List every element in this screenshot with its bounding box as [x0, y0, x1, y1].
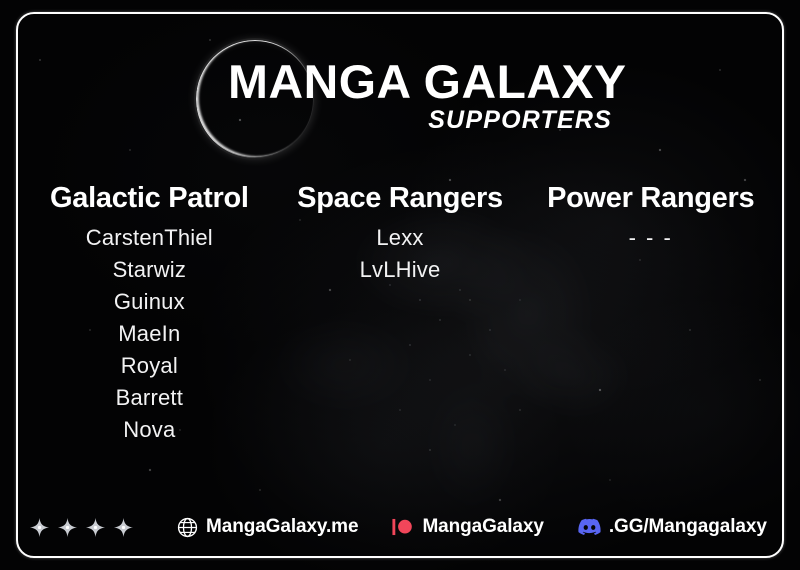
tier-empty-placeholder: - - -: [525, 222, 776, 254]
tier-name-list: CarstenThiel Starwiz Guinux MaeIn Royal …: [24, 222, 275, 445]
tier-title: Galactic Patrol: [24, 182, 275, 215]
sparkle-star-icon: [30, 518, 49, 537]
supporter-name: MaeIn: [24, 318, 275, 350]
supporter-name: Nova: [24, 414, 275, 446]
tier-name-list: - - -: [525, 222, 776, 254]
sparkle-decoration: [30, 518, 133, 537]
supporter-name: Guinux: [24, 286, 275, 318]
tier-title: Space Rangers: [275, 182, 526, 215]
sparkle-star-icon: [114, 518, 133, 537]
brand-subtitle: SUPPORTERS: [228, 108, 612, 133]
tier-column-space-rangers: Space Rangers Lexx LvLHive: [275, 182, 526, 286]
sparkle-star-icon: [58, 518, 77, 537]
supporter-name: CarstenThiel: [24, 222, 275, 254]
supporter-tiers: Galactic Patrol CarstenThiel Starwiz Gui…: [24, 182, 776, 446]
tier-column-power-rangers: Power Rangers - - -: [525, 182, 776, 254]
supporter-name: Starwiz: [24, 254, 275, 286]
brand-logo: MANGA GALAXY SUPPORTERS: [228, 58, 648, 133]
tier-name-list: Lexx LvLHive: [275, 222, 526, 286]
discord-label: .GG/Mangagalaxy: [609, 516, 767, 538]
website-link[interactable]: MangaGalaxy.me: [177, 516, 358, 538]
brand-title: MANGA GALAXY: [228, 58, 656, 105]
discord-link[interactable]: .GG/Mangagalaxy: [578, 516, 767, 538]
discord-icon: [578, 518, 601, 536]
patreon-label: MangaGalaxy: [422, 516, 543, 538]
poster-header: MANGA GALAXY SUPPORTERS: [0, 16, 800, 146]
supporter-name: Lexx: [275, 222, 526, 254]
supporter-name: LvLHive: [275, 254, 526, 286]
sparkle-star-icon: [86, 518, 105, 537]
patreon-link[interactable]: MangaGalaxy: [392, 516, 543, 538]
tier-column-galactic-patrol: Galactic Patrol CarstenThiel Starwiz Gui…: [24, 182, 275, 446]
supporters-poster: MANGA GALAXY SUPPORTERS Galactic Patrol …: [0, 0, 800, 570]
patreon-icon: [392, 518, 414, 536]
globe-icon: [177, 517, 198, 538]
tier-title: Power Rangers: [525, 182, 776, 215]
website-label: MangaGalaxy.me: [206, 516, 358, 538]
supporter-name: Royal: [24, 350, 275, 382]
supporter-name: Barrett: [24, 382, 275, 414]
poster-footer: MangaGalaxy.me MangaGalaxy .GG/Mangagala…: [30, 510, 770, 544]
